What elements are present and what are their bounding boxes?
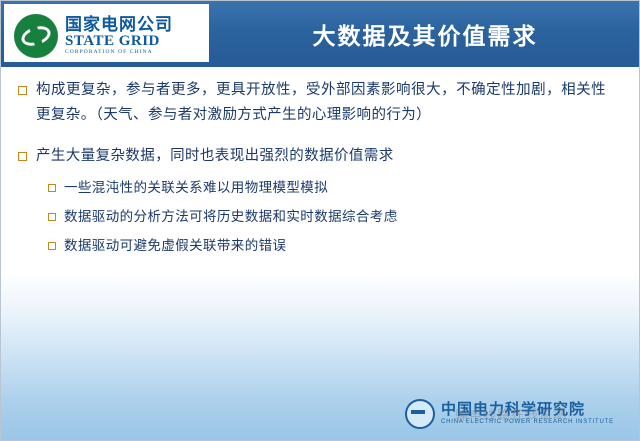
page-title: 大数据及其价值需求: [215, 0, 635, 67]
square-bullet-icon: [18, 86, 27, 95]
slide-header: 国家电网公司 STATE GRID CORPORATION OF CHINA 大…: [0, 0, 640, 67]
sub-bullet-group: 一些混沌性的关联关系难以用物理模型模拟 数据驱动的分析方法可将历史数据和实时数据…: [0, 177, 640, 258]
state-grid-logo: 国家电网公司 STATE GRID CORPORATION OF CHINA: [14, 14, 173, 58]
slide-body: 构成更复杂，参与者更多，更具开放性，受外部因素影响很大，不确定性加剧，相关性更复…: [0, 78, 640, 264]
footer-institute-en: CHINA ELECTRIC POWER RESEARCH INSTITUTE: [441, 419, 614, 426]
state-grid-globe-icon: [14, 14, 58, 58]
logo-text-block: 国家电网公司 STATE GRID CORPORATION OF CHINA: [65, 16, 173, 55]
bullet-item-2: 产生大量复杂数据，同时也表现出强烈的数据价值需求: [0, 144, 640, 169]
square-bullet-icon: [48, 242, 56, 250]
footer-logo: 中国电力科学研究院 CHINA ELECTRIC POWER RESEARCH …: [405, 399, 614, 429]
bullet-item-5: 数据驱动可避免虚假关联带来的错误: [0, 235, 640, 258]
logo-panel: 国家电网公司 STATE GRID CORPORATION OF CHINA: [4, 4, 209, 62]
bullet-item-1-label: 构成更复杂，参与者更多，更具开放性，受外部因素影响很大，不确定性加剧，相关性更复…: [36, 78, 606, 129]
square-bullet-icon: [18, 152, 27, 161]
bullet-spacer: [0, 134, 640, 144]
bullet-item-2-label: 产生大量复杂数据，同时也表现出强烈的数据价值需求: [36, 144, 394, 169]
square-bullet-icon: [48, 213, 56, 221]
logo-company-en-sub: CORPORATION OF CHINA: [65, 50, 173, 56]
bullet-item-3-label: 一些混沌性的关联关系难以用物理模型模拟: [64, 177, 328, 200]
presentation-slide: 国家电网公司 STATE GRID CORPORATION OF CHINA 大…: [0, 0, 640, 441]
logo-company-en: STATE GRID: [65, 34, 173, 50]
bullet-item-4-label: 数据驱动的分析方法可将历史数据和实时数据综合考虑: [64, 206, 398, 229]
footer-institute-cn: 中国电力科学研究院: [441, 402, 614, 419]
bullet-item-5-label: 数据驱动可避免虚假关联带来的错误: [64, 235, 286, 258]
footer-text-block: 中国电力科学研究院 CHINA ELECTRIC POWER RESEARCH …: [441, 402, 614, 425]
square-bullet-icon: [48, 184, 56, 192]
bullet-item-3: 一些混沌性的关联关系难以用物理模型模拟: [0, 177, 640, 200]
bullet-item-1: 构成更复杂，参与者更多，更具开放性，受外部因素影响很大，不确定性加剧，相关性更复…: [0, 78, 640, 129]
logo-company-cn: 国家电网公司: [65, 16, 173, 34]
cepri-logo-icon: [405, 399, 435, 429]
bullet-item-4: 数据驱动的分析方法可将历史数据和实时数据综合考虑: [0, 206, 640, 229]
